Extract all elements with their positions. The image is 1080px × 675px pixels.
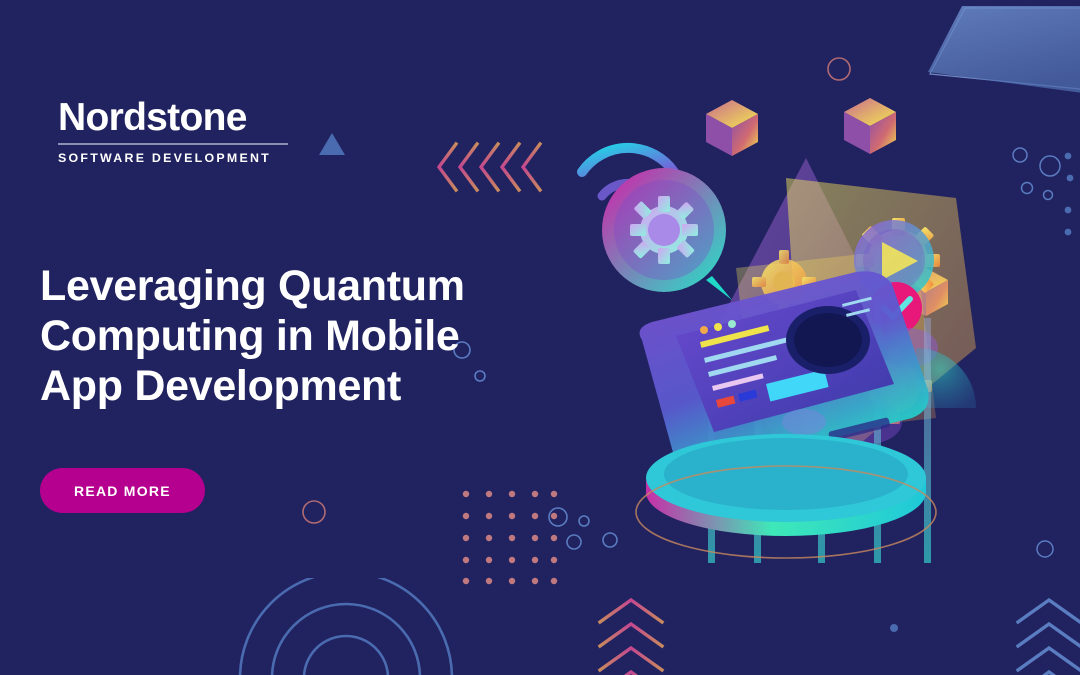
chevrons-up-blue bbox=[1014, 598, 1080, 675]
circular-platform bbox=[636, 434, 936, 558]
headline-line-1: Leveraging Quantum bbox=[40, 262, 560, 312]
quantum-mobile-illustration bbox=[556, 18, 1056, 563]
gear-icon-purple bbox=[602, 168, 732, 300]
logo-wordmark: Nordstone bbox=[58, 98, 288, 138]
concentric-arcs bbox=[236, 578, 456, 675]
logo[interactable]: Nordstone SOFTWARE DEVELOPMENT bbox=[58, 98, 288, 165]
circle-dot-bottom-right bbox=[886, 620, 902, 636]
page-title: Leveraging Quantum Computing in Mobile A… bbox=[40, 262, 560, 412]
chevrons-up-pink bbox=[596, 598, 666, 675]
home-button bbox=[782, 409, 826, 435]
isometric-cube bbox=[844, 98, 896, 154]
dot-grid bbox=[462, 490, 558, 586]
illustration-graphic bbox=[556, 18, 1056, 563]
headline-line-2: Computing in Mobile bbox=[40, 312, 560, 362]
logo-tagline: SOFTWARE DEVELOPMENT bbox=[58, 151, 288, 165]
chevrons-left-pink bbox=[434, 140, 544, 195]
read-more-button[interactable]: READ MORE bbox=[40, 468, 205, 513]
circle-outline-salmon-lower bbox=[300, 498, 328, 526]
triangle-blue-icon bbox=[319, 133, 345, 155]
logo-divider bbox=[58, 143, 288, 145]
blog-banner: Nordstone SOFTWARE DEVELOPMENT Leveragin… bbox=[0, 0, 1080, 675]
isometric-cube bbox=[706, 100, 758, 156]
headline-line-3: App Development bbox=[40, 362, 560, 412]
